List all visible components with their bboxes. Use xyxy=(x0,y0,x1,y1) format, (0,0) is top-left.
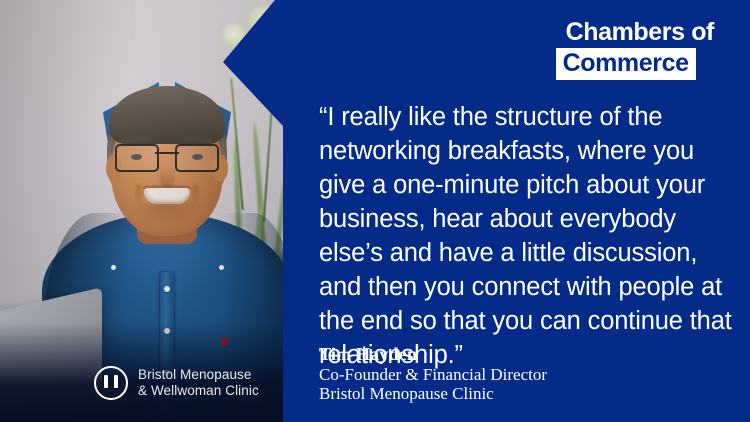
testimonial-quote: “I really like the structure of the netw… xyxy=(319,100,733,372)
smile-line-left xyxy=(135,184,142,206)
logo-line-commerce: Commerce xyxy=(563,51,689,76)
shirt-button xyxy=(164,328,170,334)
chin-shadow xyxy=(133,204,201,226)
attribution-name: Tim Hayden xyxy=(319,343,547,365)
chambers-of-commerce-logo: Chambers of Commerce xyxy=(556,20,714,80)
collar-button xyxy=(219,265,224,270)
attribution-organisation: Bristol Menopause Clinic xyxy=(319,384,547,403)
shirt-button xyxy=(164,286,170,292)
logo-commerce-box: Commerce xyxy=(556,48,696,80)
mouth-smile xyxy=(144,188,190,204)
clinic-logo-line1: Bristol Menopause xyxy=(138,367,252,382)
clinic-logo-text: Bristol Menopause & Wellwoman Clinic xyxy=(138,367,259,399)
eyeglass-lens-right xyxy=(175,144,219,172)
collar-button xyxy=(111,265,116,270)
eyeglass-bridge xyxy=(155,152,179,154)
pause-circle-icon xyxy=(94,366,128,400)
eyeglass-lens-left xyxy=(115,144,159,172)
bristol-menopause-clinic-logo: Bristol Menopause & Wellwoman Clinic xyxy=(94,366,259,400)
quote-attribution: Tim Hayden Co-Founder & Financial Direct… xyxy=(319,343,547,403)
testimonial-graphic: Chambers of Commerce “I really like the … xyxy=(0,0,750,422)
smile-line-right xyxy=(192,184,199,206)
logo-line-chambers-of: Chambers of xyxy=(556,20,714,45)
clinic-logo-line2: & Wellwoman Clinic xyxy=(138,383,259,398)
hair xyxy=(109,86,225,144)
attribution-role: Co-Founder & Financial Director xyxy=(319,365,547,384)
